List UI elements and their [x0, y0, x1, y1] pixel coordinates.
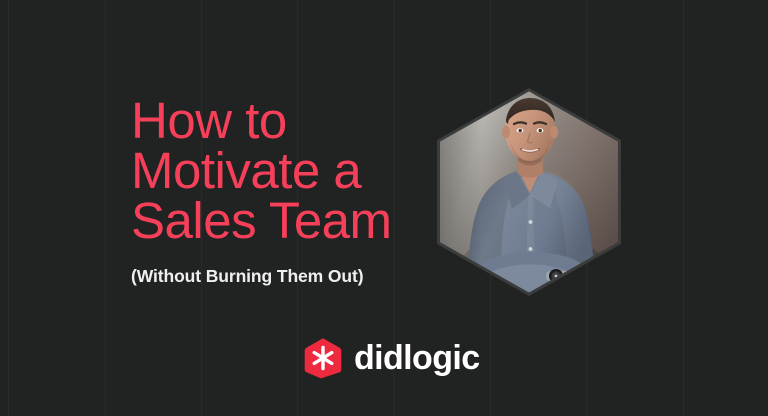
didlogic-wordmark: didlogic	[354, 341, 480, 375]
portrait-figure	[440, 91, 618, 292]
page-subtitle: (Without Burning Them Out)	[131, 266, 461, 287]
didlogic-hexagon-asterisk-icon	[304, 337, 342, 379]
slide-canvas: How to Motivate a Sales Team (Without Bu…	[0, 0, 768, 416]
page-title: How to Motivate a Sales Team	[131, 96, 461, 246]
copy-block: How to Motivate a Sales Team (Without Bu…	[131, 96, 461, 287]
didlogic-logo[interactable]: didlogic	[304, 337, 480, 379]
portrait-photo	[440, 91, 618, 292]
portrait-hexagon	[437, 88, 621, 296]
